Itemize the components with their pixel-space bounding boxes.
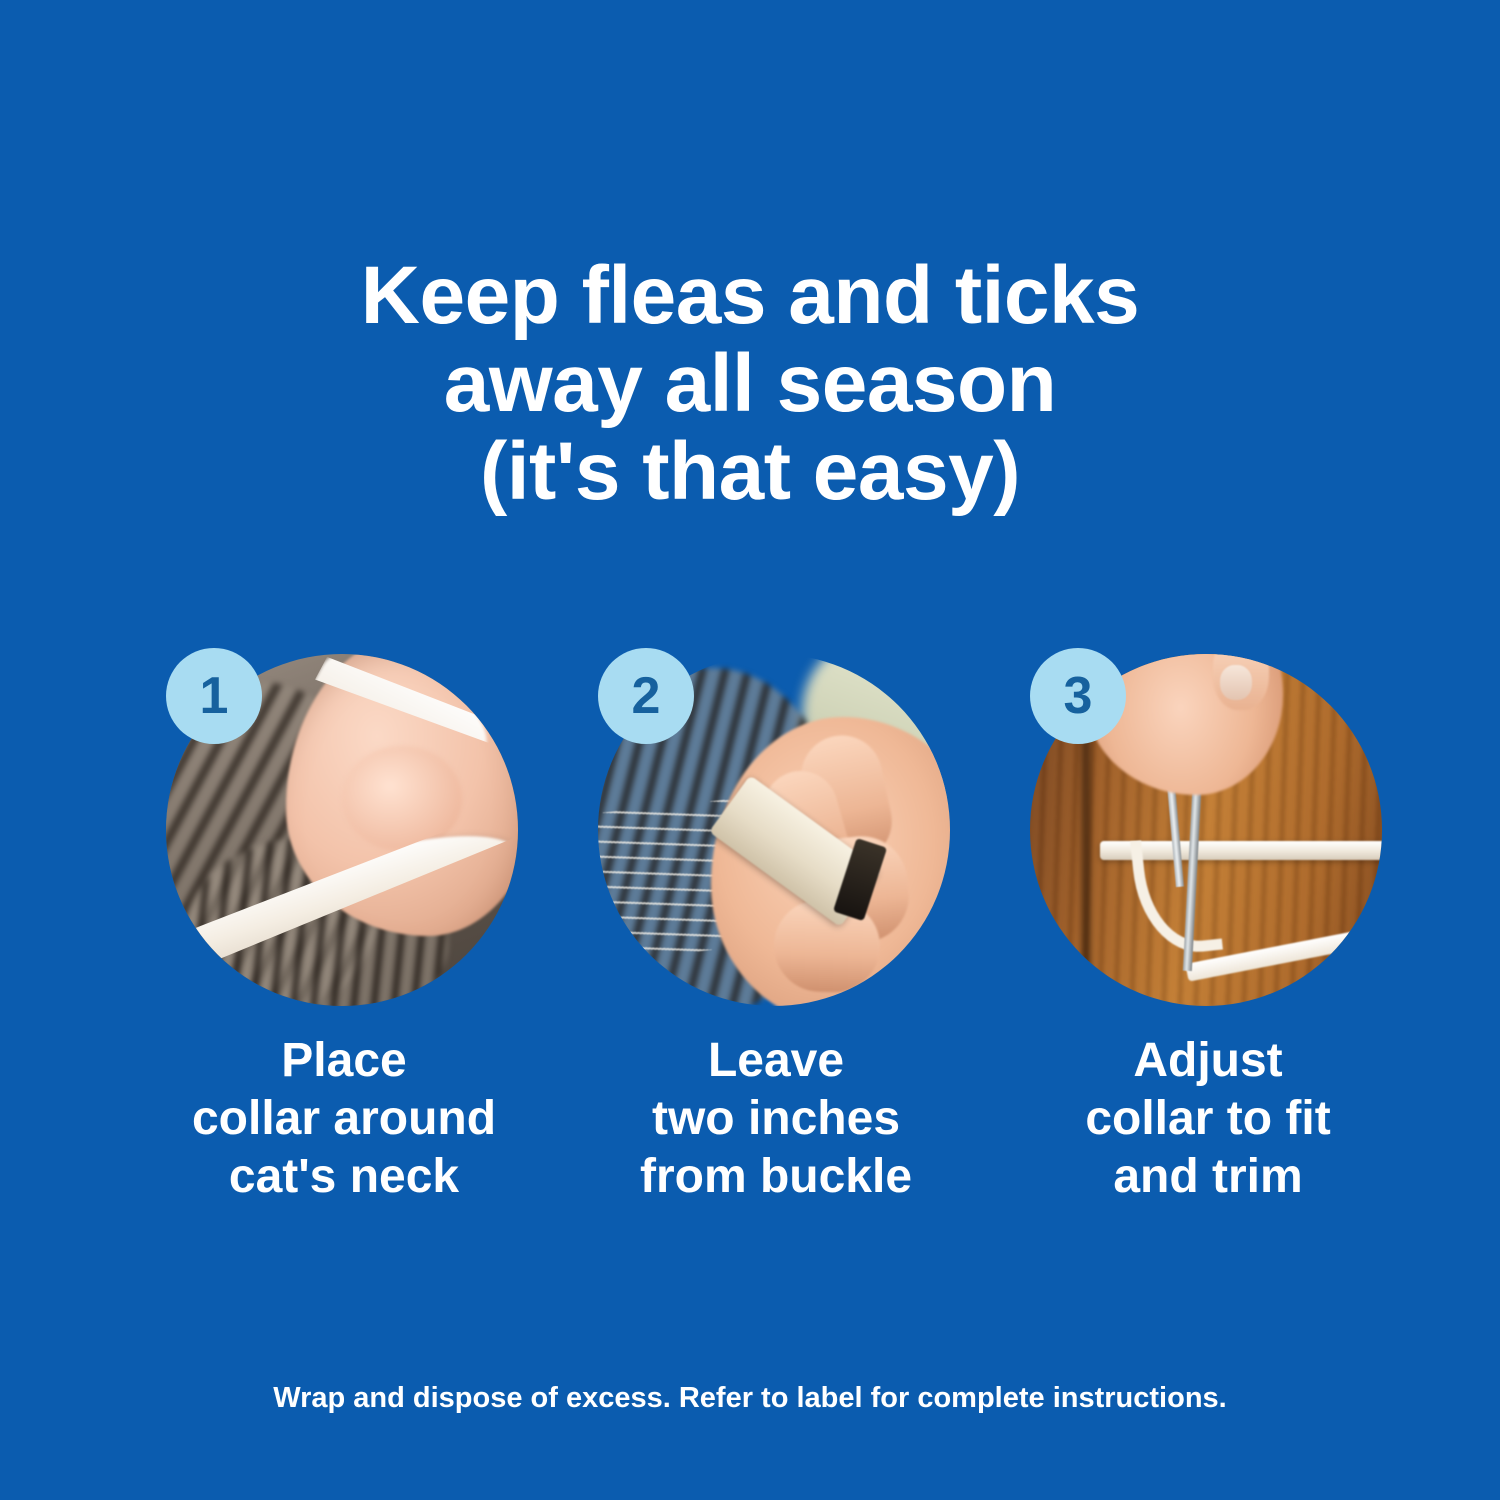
step-2: 2	[598, 648, 954, 1004]
headline-line-3: (it's that easy)	[0, 428, 1500, 516]
headline-line-1: Keep fleas and ticks	[0, 252, 1500, 340]
step-3-caption: Adjust collar to fit and trim	[998, 1032, 1418, 1206]
page-headline: Keep fleas and ticks away all season (it…	[0, 252, 1500, 516]
step-1-caption-line-3: cat's neck	[134, 1148, 554, 1206]
step-3-caption-line-3: and trim	[998, 1148, 1418, 1206]
thumbnail	[1220, 665, 1252, 700]
step-3-caption-line-2: collar to fit	[998, 1090, 1418, 1148]
step-2-caption-line-3: from buckle	[566, 1148, 986, 1206]
steps-row: 1 2	[0, 648, 1500, 1048]
step-1-caption: Place collar around cat's neck	[134, 1032, 554, 1206]
instructional-infographic: Keep fleas and ticks away all season (it…	[0, 0, 1500, 1500]
step-3-badge: 3	[1030, 648, 1126, 744]
step-2-badge: 2	[598, 648, 694, 744]
step-2-caption: Leave two inches from buckle	[566, 1032, 986, 1206]
step-1-caption-line-1: Place	[134, 1032, 554, 1090]
step-1-badge: 1	[166, 648, 262, 744]
step-2-caption-line-1: Leave	[566, 1032, 986, 1090]
step-3-caption-line-1: Adjust	[998, 1032, 1418, 1090]
footer-disclaimer: Wrap and dispose of excess. Refer to lab…	[0, 1378, 1500, 1418]
captions-row: Place collar around cat's neck Leave two…	[0, 1032, 1500, 1222]
step-3: 3	[1030, 648, 1386, 1004]
step-1-caption-line-2: collar around	[134, 1090, 554, 1148]
headline-line-2: away all season	[0, 340, 1500, 428]
hand-knuckle	[342, 746, 462, 852]
step-2-caption-line-2: two inches	[566, 1090, 986, 1148]
step-1: 1	[166, 648, 522, 1004]
